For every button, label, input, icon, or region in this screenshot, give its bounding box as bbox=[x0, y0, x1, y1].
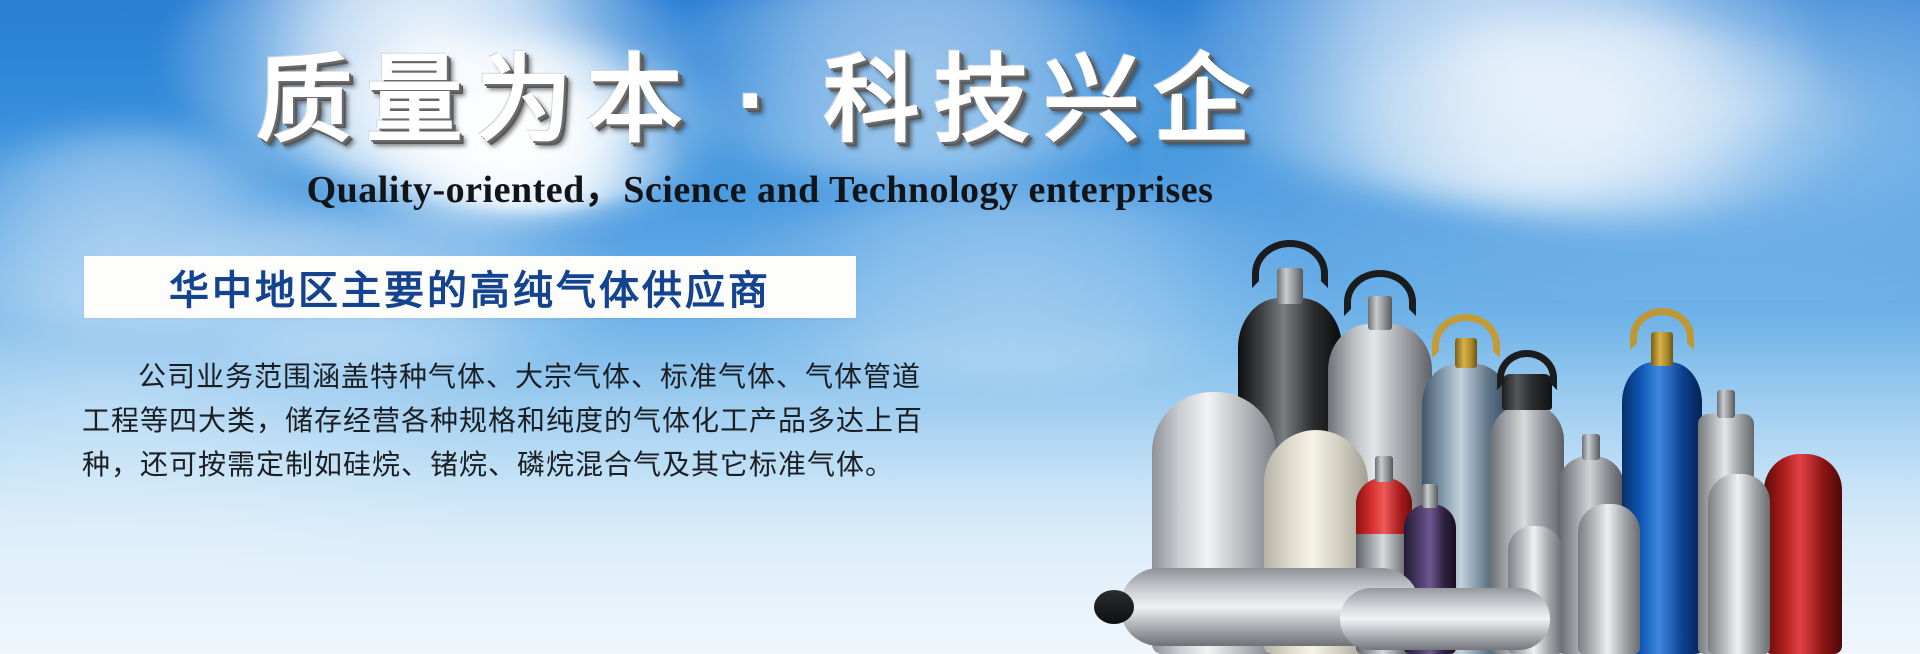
callout-box: 华中地区主要的高纯气体供应商 bbox=[84, 256, 856, 318]
body-line-1: 公司业务范围涵盖特种气体、大宗气体、标准气体、气体管道 bbox=[82, 356, 872, 400]
cylinder-aluminium-right bbox=[1708, 474, 1770, 654]
cylinder-red bbox=[1764, 454, 1842, 654]
tank-valve-knob bbox=[1094, 590, 1134, 624]
cylinder-aluminium-squat bbox=[1578, 504, 1640, 654]
banner-subheadline: Quality-oriented，Science and Technology … bbox=[0, 158, 1520, 213]
tank-horizontal-second bbox=[1340, 588, 1550, 650]
body-line-3: 种，还可按需定制如硅烷、锗烷、磷烷混合气及其它标准气体。 bbox=[82, 444, 872, 488]
callout-text: 华中地区主要的高纯气体供应商 bbox=[169, 258, 771, 316]
body-line-2: 工程等四大类，储存经营各种规格和纯度的气体化工产品多达上百 bbox=[82, 400, 872, 444]
banner-body-copy: 公司业务范围涵盖特种气体、大宗气体、标准气体、气体管道 工程等四大类，储存经营各… bbox=[82, 356, 872, 488]
banner-headline: 质量为本 · 科技兴企 bbox=[0, 22, 1520, 161]
promotional-banner: 质量为本 · 科技兴企 Quality-oriented，Science and… bbox=[0, 0, 1920, 654]
